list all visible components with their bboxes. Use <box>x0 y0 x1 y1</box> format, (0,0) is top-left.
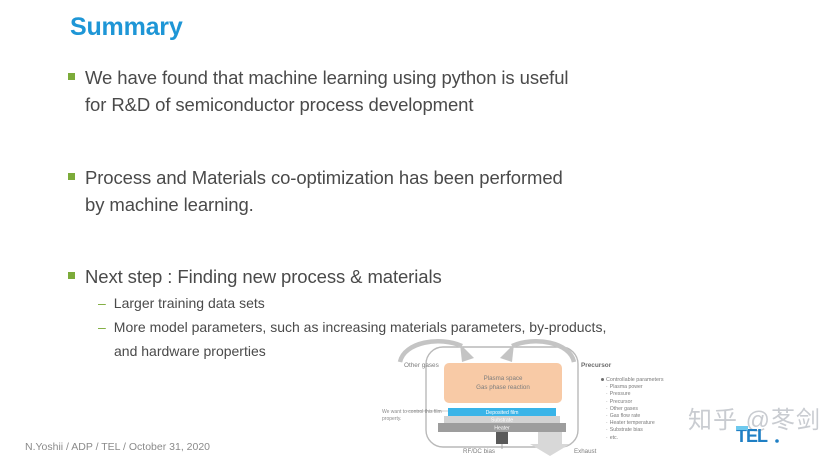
tel-logo: TEL <box>736 424 796 450</box>
square-bullet-icon <box>68 173 75 180</box>
tick-bullet-icon: · <box>606 391 608 398</box>
deposited-film-label: Deposited film <box>486 410 519 416</box>
heater-label: Heater <box>494 426 510 432</box>
exhaust-arrow <box>530 432 570 456</box>
plasma-space-label-line2: Gas phase reaction <box>476 384 530 391</box>
precursor-arrow <box>512 341 574 362</box>
bullet-item-2: Process and Materials co-optimization ha… <box>68 164 708 218</box>
sub-bullet-item-1: – Larger training data sets <box>98 293 718 313</box>
precursor-label: Precursor <box>581 362 612 369</box>
parameter-item: ·Pressure <box>601 391 696 398</box>
tel-logo-bar-icon <box>736 426 748 430</box>
bullet-3-line-1: Next step : Finding new process & materi… <box>85 263 442 290</box>
bullet-2-line-1: Process and Materials co-optimization ha… <box>85 164 563 191</box>
dash-bullet-icon: – <box>98 317 106 337</box>
bullet-item-3: Next step : Finding new process & materi… <box>68 263 708 290</box>
parameter-label: Heater temperature <box>610 420 655 426</box>
parameter-label: Gas flow rate <box>610 413 641 419</box>
parameter-label: Plasma power <box>610 384 643 390</box>
square-bullet-icon <box>68 73 75 80</box>
square-bullet-icon <box>68 272 75 279</box>
bullet-1-line-2: for R&D of semiconductor process develop… <box>85 91 708 118</box>
footer-attribution: N.Yoshii / ADP / TEL / October 31, 2020 <box>25 441 210 453</box>
parameter-item: ·etc. <box>601 435 696 442</box>
tick-bullet-icon: · <box>606 384 608 391</box>
bullet-2-line-2: by machine learning. <box>85 191 708 218</box>
tel-logo-dot-icon <box>775 439 779 443</box>
bullet-item-1: We have found that machine learning usin… <box>68 64 708 118</box>
tick-bullet-icon: · <box>606 406 608 413</box>
bias-electrode <box>496 432 508 444</box>
slide-canvas: Summary We have found that machine learn… <box>0 0 831 457</box>
tick-bullet-icon: · <box>606 427 608 434</box>
exhaust-label: Exhaust <box>574 448 597 455</box>
parameter-label: etc. <box>610 435 618 441</box>
parameter-item: ·Heater temperature <box>601 420 696 427</box>
tick-bullet-icon: · <box>606 413 608 420</box>
parameter-label: Other gases <box>610 406 638 412</box>
filled-dot-icon <box>601 378 604 381</box>
parameter-label: Pressure <box>610 391 631 397</box>
controllable-parameters-list: Controllable parameters ·Plasma power ·P… <box>601 377 696 442</box>
parameter-item: ·Gas flow rate <box>601 413 696 420</box>
substrate-label: Substrate <box>491 418 513 424</box>
tick-bullet-icon: · <box>606 435 608 442</box>
page-title: Summary <box>70 13 183 42</box>
sub-bullet-1-line-1: Larger training data sets <box>114 293 265 313</box>
parameters-header-label: Controllable parameters <box>606 377 664 383</box>
tick-bullet-icon: · <box>606 420 608 427</box>
other-gases-label: Other gases <box>404 362 439 369</box>
film-property-note: We want to control this film property. <box>382 409 448 422</box>
bullet-1-line-1: We have found that machine learning usin… <box>85 64 568 91</box>
parameters-header-row: Controllable parameters <box>601 377 696 384</box>
parameter-item: ·Precursor <box>601 399 696 406</box>
parameter-label: Substrate bias <box>610 427 643 433</box>
tick-bullet-icon: · <box>606 399 608 406</box>
parameter-item: ·Other gases <box>601 406 696 413</box>
parameter-item: ·Substrate bias <box>601 427 696 434</box>
sub-bullet-2-line-1: More model parameters, such as increasin… <box>114 317 607 337</box>
dash-bullet-icon: – <box>98 293 106 313</box>
plasma-space-label-line1: Plasma space <box>484 375 523 382</box>
rf-dc-bias-label: RF/DC bias <box>463 448 495 455</box>
plasma-space-region <box>444 363 562 403</box>
parameter-label: Precursor <box>610 399 633 405</box>
parameter-item: ·Plasma power <box>601 384 696 391</box>
